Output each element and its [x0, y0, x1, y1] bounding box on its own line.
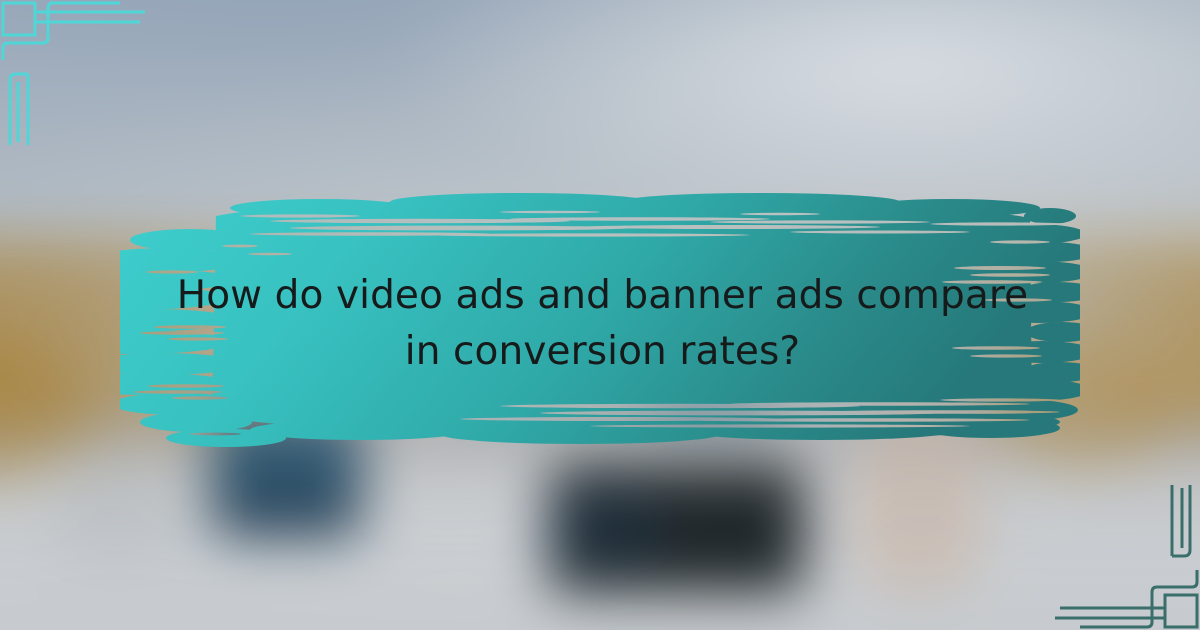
corner-ornament-top-left: [0, 0, 160, 160]
page-title: How do video ads and banner ads compare …: [175, 268, 1030, 380]
question-card: How do video ads and banner ads compare …: [0, 0, 1200, 630]
corner-ornament-bottom-right: [1040, 470, 1200, 630]
